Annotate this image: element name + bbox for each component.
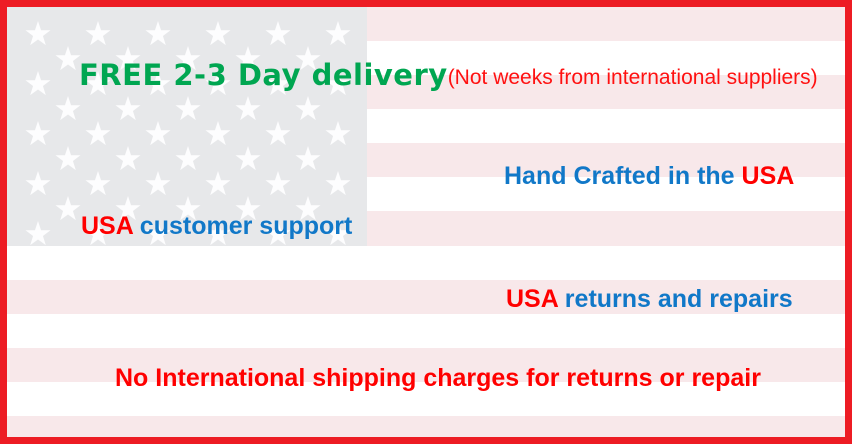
benefit-line-no-international-shipping: No International shipping charges for re…: [115, 366, 761, 391]
benefit-line-support: USA customer support: [81, 214, 352, 239]
returns-suffix-text: returns and repairs: [558, 285, 793, 313]
usa-shipping-benefits-banner: FREE 2-3 Day delivery(Not weeks from int…: [0, 0, 852, 444]
benefit-text-layer: FREE 2-3 Day delivery(Not weeks from int…: [7, 7, 845, 437]
delivery-highlight-text: FREE 2-3 Day delivery: [79, 58, 448, 92]
support-suffix-text: customer support: [133, 212, 352, 240]
delivery-note-text: (Not weeks from international suppliers): [448, 66, 818, 89]
benefit-line-handcrafted: Hand Crafted in the USA: [504, 164, 794, 189]
benefit-line-returns: USA returns and repairs: [506, 287, 793, 312]
handcrafted-usa-text: USA: [742, 162, 795, 190]
support-usa-text: USA: [81, 212, 133, 240]
returns-usa-text: USA: [506, 285, 558, 313]
benefit-line-delivery: FREE 2-3 Day delivery(Not weeks from int…: [79, 61, 818, 90]
handcrafted-prefix-text: Hand Crafted in the: [504, 162, 742, 190]
